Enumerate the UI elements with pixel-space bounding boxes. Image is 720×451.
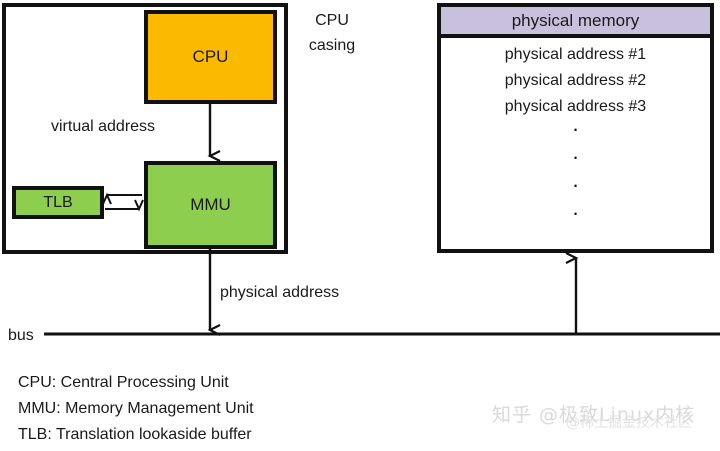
physical-address-label: physical address bbox=[220, 284, 339, 302]
physical-memory-rows: physical address #1 physical address #2 … bbox=[441, 42, 710, 120]
diagram-canvas: CPU casing CPU MMU TLB virtual address p… bbox=[0, 0, 720, 451]
bus-label: bus bbox=[8, 327, 34, 345]
mmu-block-label: MMU bbox=[190, 195, 231, 215]
physical-memory-block[interactable]: physical memory physical address #1 phys… bbox=[437, 3, 714, 253]
cpu-block-label: CPU bbox=[193, 47, 229, 67]
physical-memory-header-label: physical memory bbox=[512, 11, 640, 31]
legend-item-mmu: MMU: Memory Management Unit bbox=[18, 396, 254, 422]
virtual-address-label: virtual address bbox=[51, 118, 155, 136]
cpu-casing-label: CPU casing bbox=[297, 8, 367, 58]
legend: CPU: Central Processing Unit MMU: Memory… bbox=[18, 370, 254, 448]
list-item: physical address #2 bbox=[441, 68, 710, 94]
tlb-block-label: TLB bbox=[43, 194, 72, 212]
cpu-block[interactable]: CPU bbox=[144, 10, 277, 104]
legend-item-tlb: TLB: Translation lookaside buffer bbox=[18, 422, 254, 448]
tlb-block[interactable]: TLB bbox=[12, 186, 104, 219]
mmu-block[interactable]: MMU bbox=[144, 161, 277, 249]
physical-memory-ellipsis: · · · · bbox=[441, 124, 710, 236]
legend-item-cpu: CPU: Central Processing Unit bbox=[18, 370, 254, 396]
list-item: physical address #1 bbox=[441, 42, 710, 68]
physical-memory-header: physical memory bbox=[441, 7, 710, 38]
watermark-secondary: @稀土掘金技术社区 bbox=[566, 412, 692, 432]
ellipsis-dot: · bbox=[441, 208, 710, 236]
cpu-casing-label-line1: CPU bbox=[297, 8, 367, 33]
cpu-casing-label-line2: casing bbox=[297, 33, 367, 58]
